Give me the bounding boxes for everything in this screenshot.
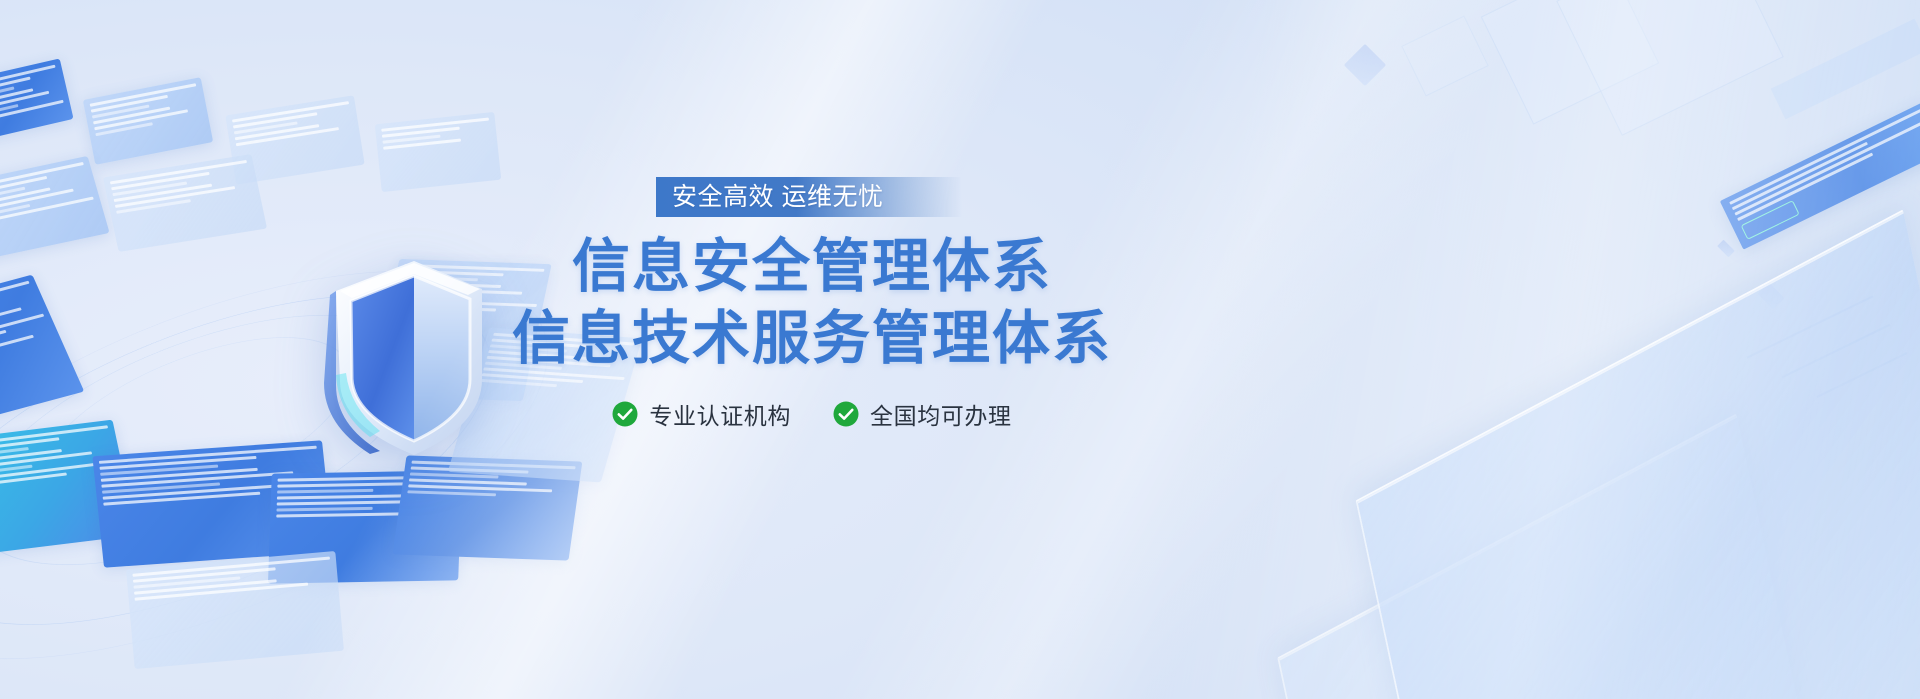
diamond-accent xyxy=(1717,240,1735,258)
hero-banner: 安全高效 运维无忧 信息安全管理体系 信息技术服务管理体系 专业认证机构 xyxy=(0,0,1920,699)
faint-panel xyxy=(1401,15,1488,96)
faint-panel xyxy=(1771,19,1920,120)
data-panel xyxy=(375,112,501,192)
glass-plate-front xyxy=(1355,209,1920,699)
eyebrow-badge: 安全高效 运维无忧 xyxy=(656,177,962,217)
check-circle-icon xyxy=(612,401,638,427)
feature-label: 全国均可办理 xyxy=(870,397,1012,431)
eyebrow-text: 安全高效 运维无忧 xyxy=(672,185,883,210)
headline-line-1: 信息安全管理体系 xyxy=(512,235,1112,299)
faint-panel xyxy=(1556,0,1784,136)
feature-label: 专业认证机构 xyxy=(649,397,791,431)
shield-icon xyxy=(318,255,488,460)
feature-item: 专业认证机构 xyxy=(612,397,791,431)
diamond-accent xyxy=(1344,44,1386,86)
data-panel xyxy=(126,551,344,669)
right-decoration xyxy=(1160,0,1920,699)
headline-line-2: 信息技术服务管理体系 xyxy=(512,307,1112,371)
check-circle-icon xyxy=(833,401,859,427)
feature-list: 专业认证机构 全国均可办理 xyxy=(612,397,1011,431)
page-title: 信息安全管理体系 信息技术服务管理体系 xyxy=(512,235,1112,371)
feature-item: 全国均可办理 xyxy=(833,397,1012,431)
